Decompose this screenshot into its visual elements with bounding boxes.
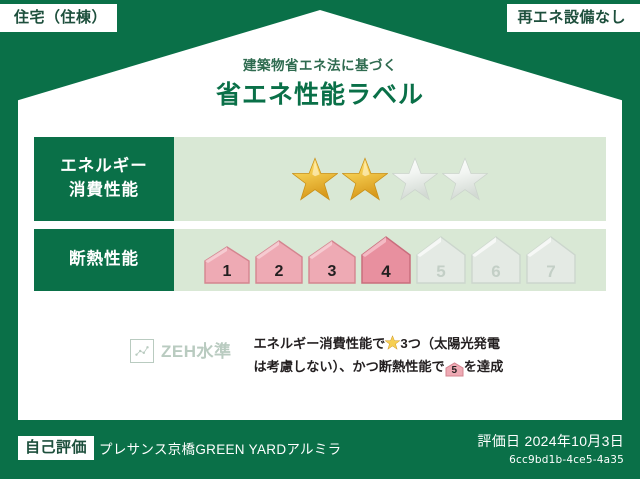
note-line1-after: 3つ（太陽光発電 [400, 336, 500, 351]
insulation-grade-7: 7 [525, 235, 577, 285]
row-energy-label: エネルギー 消費性能 [34, 137, 174, 221]
insulation-grade-7-value: 7 [546, 263, 555, 285]
badge-building-type: 住宅（住棟） [0, 4, 117, 32]
energy-performance-label-card: 住宅（住棟） 再エネ設備なし 建築物省エネ法に基づく 省エネ性能ラベル エネルギ… [0, 0, 640, 479]
star-icon-filled-1 [292, 156, 338, 202]
zeh-standard-label: ZEH水準 [161, 343, 232, 360]
badge-self-evaluation: 自己評価 [18, 436, 94, 460]
zeh-standard-indicator: ZEH水準 [130, 332, 232, 363]
insulation-grade-inline-value: 5 [445, 362, 464, 380]
note-line2-after: を達成 [464, 359, 504, 374]
evaluation-id: 6cc9bd1b-4ce5-4a35 [477, 454, 624, 466]
row-energy-body [174, 137, 606, 221]
note-area: ZEH水準 エネルギー消費性能で3つ（太陽光発電 は考慮しない）、かつ断熱性能で… [34, 332, 606, 378]
badge-renewable-energy: 再エネ設備なし [507, 4, 640, 32]
star-icon-empty-3 [392, 156, 438, 202]
achievement-note: エネルギー消費性能で3つ（太陽光発電 は考慮しない）、かつ断熱性能で5を達成 [254, 332, 607, 378]
title-block: 建築物省エネ法に基づく 省エネ性能ラベル [0, 58, 640, 110]
row-insulation-body: 1 2 3 [174, 229, 606, 291]
note-line2-before: は考慮しない）、かつ断熱性能で [254, 359, 445, 374]
insulation-grade-3: 3 [307, 239, 357, 285]
evaluation-date: 評価日 2024年10月3日 [477, 431, 624, 451]
insulation-grade-1: 1 [203, 245, 251, 285]
row-insulation-label-line1: 断熱性能 [69, 248, 139, 272]
title-main: 省エネ性能ラベル [0, 80, 640, 110]
insulation-grade-5-value: 5 [436, 263, 445, 285]
insulation-grade-5: 5 [415, 235, 467, 285]
insulation-grade-6: 6 [470, 235, 522, 285]
insulation-grade-inline: 5 [445, 362, 464, 377]
row-energy-label-line1: エネルギー [60, 155, 148, 179]
row-energy-consumption: エネルギー 消費性能 [34, 137, 606, 221]
row-insulation-label: 断熱性能 [34, 229, 174, 291]
footer-left: 自己評価 プレサンス京橋GREEN YARDアルミラ [18, 436, 341, 460]
insulation-grade-3-value: 3 [328, 264, 337, 285]
insulation-grade-1-value: 1 [223, 264, 232, 285]
row-insulation-performance: 断熱性能 1 [34, 229, 606, 291]
metric-rows: エネルギー 消費性能 [34, 137, 606, 291]
star-icon-inline [385, 335, 400, 350]
insulation-grade-2: 2 [254, 239, 304, 285]
insulation-grade-4-value: 4 [381, 263, 390, 285]
zeh-chart-icon [130, 339, 154, 363]
insulation-grade-6-value: 6 [491, 263, 500, 285]
star-icon-filled-2 [342, 156, 388, 202]
building-name: プレサンス京橋GREEN YARDアルミラ [99, 438, 341, 458]
footer: 自己評価 プレサンス京橋GREEN YARDアルミラ 評価日 2024年10月3… [0, 420, 640, 479]
star-rating [292, 156, 488, 202]
insulation-grade-scale: 1 2 3 [203, 235, 577, 285]
star-icon-empty-4 [442, 156, 488, 202]
footer-right: 評価日 2024年10月3日 6cc9bd1b-4ce5-4a35 [477, 431, 624, 466]
insulation-grade-4: 4 [360, 235, 412, 285]
note-line1-before: エネルギー消費性能で [254, 336, 386, 351]
insulation-grade-2-value: 2 [275, 264, 284, 285]
row-energy-label-line2: 消費性能 [69, 179, 139, 203]
title-subtitle: 建築物省エネ法に基づく [0, 58, 640, 74]
